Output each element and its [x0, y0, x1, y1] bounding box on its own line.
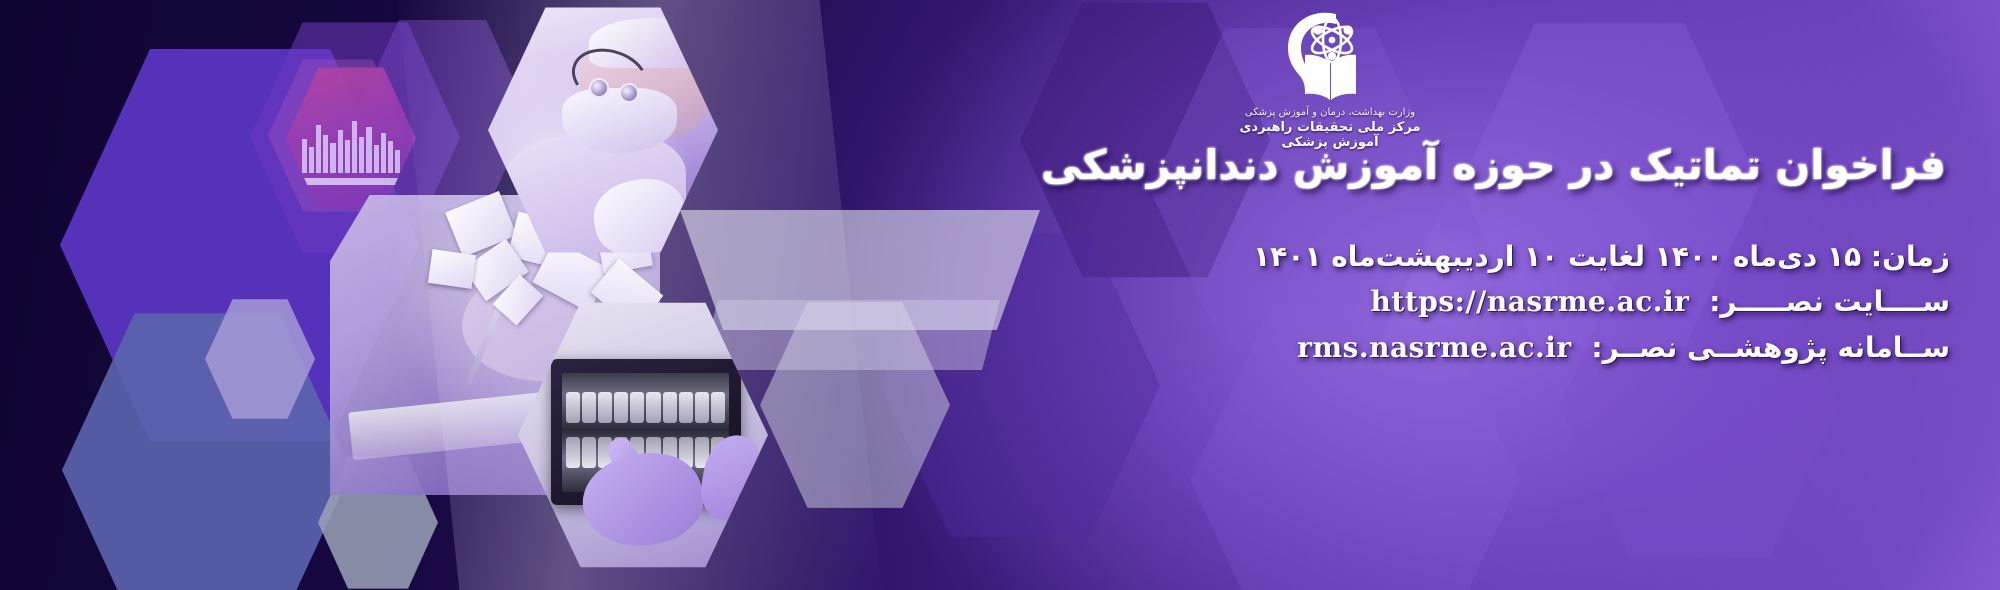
xray-upper-teeth [562, 392, 729, 423]
lab-plate [294, 178, 408, 185]
logo-ministry-line: وزارت بهداشت، درمان و آموزش پزشکی [1220, 107, 1440, 118]
research-system-url[interactable]: rms.nasrme.ac.ir [1297, 325, 1571, 370]
flying-paper [428, 249, 476, 289]
info-list: زمان: ۱۵ دی‌ماه ۱۴۰۰ لغایت ۱۰ اردیبهشت‌م… [640, 234, 1960, 370]
website-url[interactable]: https://nasrme.ac.ir [1371, 279, 1690, 324]
research-system-label: ســامانه پژوهشــی نصــر: [1591, 331, 1950, 364]
lab-chart-bars [302, 115, 401, 173]
website-label: ســــایت نصـــــر: [1709, 285, 1950, 318]
loupe-lens-icon [589, 78, 609, 98]
dentistry-education-call-banner: وزارت بهداشت، درمان و آموزش پزشکی مرکز م… [0, 0, 2000, 590]
page-title: فراخوان تماتیک در حوزه آموزش دندانپزشکی [640, 140, 1960, 190]
organization-logo: وزارت بهداشت، درمان و آموزش پزشکی مرکز م… [1220, 6, 1440, 150]
head-book-atom-icon [1274, 6, 1386, 104]
info-row-website: ســــایت نصـــــر: https://nasrme.ac.ir [640, 279, 1950, 324]
loupe-lens-icon [619, 83, 639, 103]
banner-content: فراخوان تماتیک در حوزه آموزش دندانپزشکی … [640, 140, 1960, 370]
date-label: زمان: ۱۵ دی‌ماه ۱۴۰۰ لغایت ۱۰ اردیبهشت‌م… [1253, 240, 1950, 273]
info-row-date: زمان: ۱۵ دی‌ماه ۱۴۰۰ لغایت ۱۰ اردیبهشت‌م… [640, 234, 1950, 279]
info-row-research-system: ســامانه پژوهشــی نصــر: rms.nasrme.ac.i… [640, 325, 1950, 370]
